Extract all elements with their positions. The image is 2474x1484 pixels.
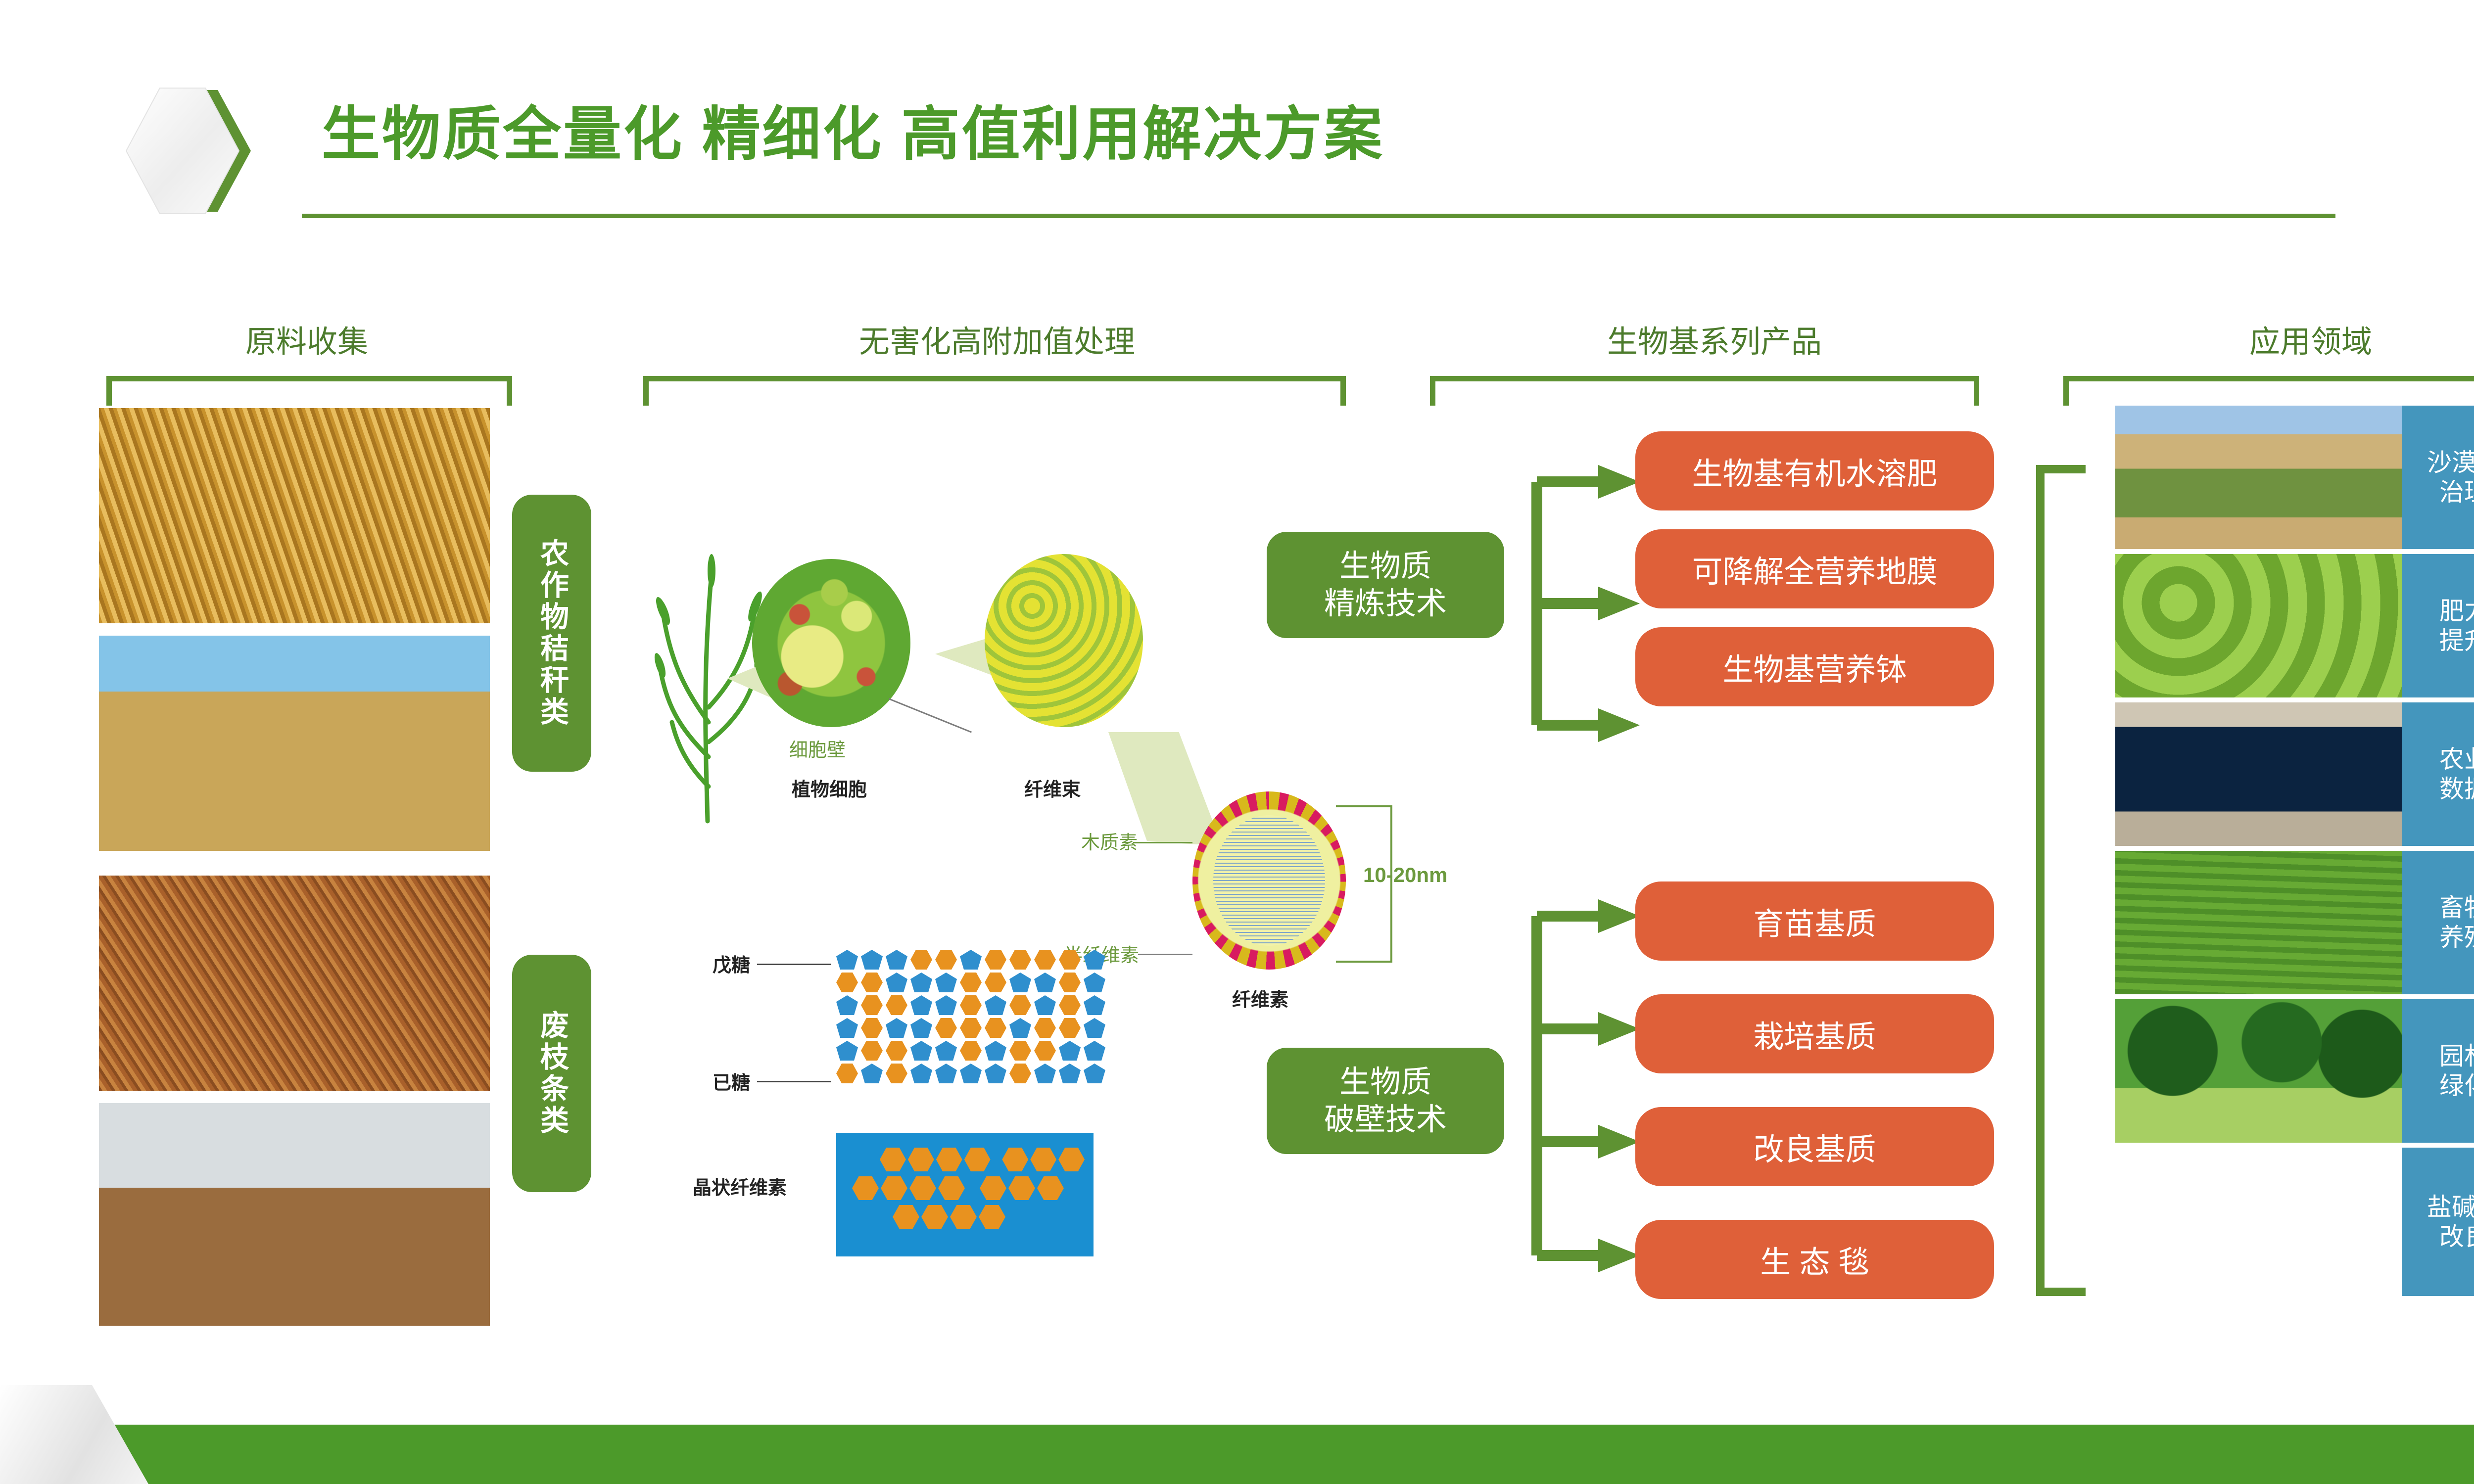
data-control-room-photo [2115, 702, 2402, 846]
product-box-cultivation-substrate[interactable]: 栽培基质 [1635, 994, 1994, 1073]
product-box-ecological-mat[interactable]: 生 态 毯 [1635, 1220, 1994, 1299]
vineyard-prune-photo [99, 1103, 490, 1326]
section-heading-raw-material: 原料收集 [134, 317, 480, 361]
bracket-applications-group [2036, 465, 2086, 1296]
title-underline [302, 214, 2335, 218]
pentose-leader-line [757, 964, 831, 965]
application-label-landscape-greening[interactable]: 园林 绿化 [2402, 999, 2474, 1143]
category-pill-waste-branch: 废枝条类 [512, 955, 591, 1192]
app-desert-line2: 治理 [2439, 477, 2474, 507]
fiber-bundle-illustration [985, 554, 1143, 727]
product-box-water-soluble-fertilizer[interactable]: 生物基有机水溶肥 [1635, 431, 1994, 510]
saline-soil-photo [2115, 1148, 2402, 1296]
hexagon-chevron-icon [126, 79, 275, 223]
app-landscape-line2: 绿化 [2439, 1071, 2474, 1101]
plant-cell-label: 植物细胞 [792, 774, 867, 801]
scale-label: 10-20nm [1363, 863, 1447, 887]
desert-restoration-photo [2115, 406, 2402, 549]
application-label-agriculture-data[interactable]: 农业 数据 [2402, 702, 2474, 846]
application-label-saline-land-improvement[interactable]: 盐碱地 改良 [2402, 1148, 2474, 1296]
hexose-label: 已糖 [713, 1067, 750, 1095]
tech-refining-line2: 精炼技术 [1324, 585, 1447, 623]
product-box-improvement-substrate[interactable]: 改良基质 [1635, 1107, 1994, 1186]
tech-refining-line1: 生物质 [1339, 548, 1431, 585]
app-desert-line1: 沙漠化 [2427, 448, 2474, 477]
section-heading-processing: 无害化高附加值处理 [663, 317, 1331, 361]
crystalline-cellulose-panel [836, 1133, 1094, 1256]
bracket-processing [643, 376, 1346, 406]
footer-bar [0, 1425, 2474, 1484]
section-heading-bio-products: 生物基系列产品 [1445, 317, 1984, 361]
tech-wallbreak-line2: 破壁技术 [1324, 1101, 1447, 1139]
app-landscape-line1: 园林 [2439, 1041, 2474, 1071]
cabbage-field-photo [2115, 554, 2402, 697]
product-box-seedling-substrate[interactable]: 育苗基质 [1635, 881, 1994, 961]
cell-wall-label: 细胞壁 [789, 735, 846, 762]
category-pill-crop-straw: 农作物秸秆类 [512, 495, 591, 772]
bracket-bio-products [1430, 376, 1979, 406]
hemicellulose-leader-line [1138, 954, 1192, 955]
app-data-line1: 农业 [2439, 744, 2474, 774]
plant-illustration [643, 510, 772, 826]
app-saline-line2: 改良 [2439, 1222, 2474, 1252]
bracket-applications [2063, 376, 2474, 406]
corn-stalk-photo [99, 408, 490, 623]
application-label-desertification-control[interactable]: 沙漠化 治理 [2402, 406, 2474, 549]
hay-bale-photo [99, 636, 490, 851]
app-fertility-line2: 提升 [2439, 626, 2474, 655]
hexose-leader-line [757, 1081, 831, 1082]
lignin-label: 木质素 [1081, 827, 1138, 854]
plant-cell-illustration [752, 559, 910, 727]
app-livestock-line1: 畜牧 [2439, 893, 2474, 923]
bracket-raw-material [106, 376, 512, 406]
lignin-leader-line [1133, 842, 1192, 843]
app-fertility-line1: 肥力 [2439, 596, 2474, 626]
park-trees-photo [2115, 999, 2402, 1143]
product-box-degradable-mulch-film[interactable]: 可降解全营养地膜 [1635, 529, 1994, 608]
app-livestock-line2: 养殖 [2439, 923, 2474, 952]
crystalline-cellulose-label: 晶状纤维素 [693, 1172, 787, 1200]
pentose-label: 戊糖 [713, 950, 750, 977]
fiber-bundle-label: 纤维束 [1024, 774, 1081, 801]
app-saline-line1: 盐碱地 [2427, 1192, 2474, 1222]
sheep-grazing-photo [2115, 851, 2402, 994]
dry-branch-photo [99, 876, 490, 1091]
app-data-line2: 数据 [2439, 774, 2474, 804]
sugar-chain-illustration [836, 950, 1105, 1083]
section-heading-applications: 应用领域 [2098, 317, 2474, 361]
technology-box-refining[interactable]: 生物质 精炼技术 [1267, 532, 1504, 638]
technology-box-wall-break[interactable]: 生物质 破壁技术 [1267, 1048, 1504, 1154]
cell-wall-leader-line [889, 698, 972, 733]
cellulose-label: 纤维素 [1232, 984, 1288, 1012]
cellulose-cross-section [1192, 791, 1346, 970]
page-title: 生物质全量化 精细化 高值利用解决方案 [322, 87, 1384, 171]
application-label-livestock-breeding[interactable]: 畜牧 养殖 [2402, 851, 2474, 994]
product-box-nutrient-pot[interactable]: 生物基营养钵 [1635, 627, 1994, 706]
application-label-fertility-improvement[interactable]: 肥力 提升 [2402, 554, 2474, 697]
tech-wallbreak-line1: 生物质 [1339, 1064, 1431, 1101]
